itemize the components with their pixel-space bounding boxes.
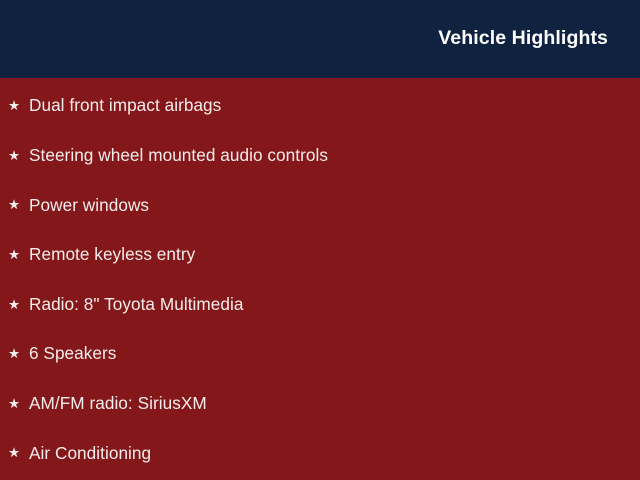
star-bullet-icon: ★ [8, 248, 29, 262]
list-item: ★Dual front impact airbags [8, 94, 221, 118]
star-bullet-icon: ★ [8, 99, 29, 113]
list-item: ★Radio: 8" Toyota Multimedia [8, 292, 243, 316]
star-bullet-icon: ★ [8, 298, 29, 312]
star-bullet-icon: ★ [8, 347, 29, 361]
list-item-label: Power windows [29, 197, 149, 214]
star-bullet-icon: ★ [8, 149, 29, 163]
star-bullet-icon: ★ [8, 446, 29, 460]
star-bullet-icon: ★ [8, 198, 29, 212]
list-item: ★Remote keyless entry [8, 243, 195, 267]
vehicle-highlights-slide: Vehicle Highlights ★Dual front impact ai… [0, 0, 640, 480]
list-item: ★6 Speakers [8, 342, 116, 366]
list-item: ★AM/FM radio: SiriusXM [8, 392, 207, 416]
list-item-label: Remote keyless entry [29, 246, 195, 263]
list-item-label: AM/FM radio: SiriusXM [29, 395, 207, 412]
list-item-label: Dual front impact airbags [29, 97, 221, 114]
list-item-label: Air Conditioning [29, 445, 151, 462]
list-item-label: 6 Speakers [29, 345, 116, 362]
star-bullet-icon: ★ [8, 397, 29, 411]
list-item-label: Steering wheel mounted audio controls [29, 147, 328, 164]
list-item: ★Air Conditioning [8, 441, 151, 465]
header-band: Vehicle Highlights [0, 0, 640, 78]
list-item-label: Radio: 8" Toyota Multimedia [29, 296, 243, 313]
page-title: Vehicle Highlights [438, 29, 608, 49]
list-item: ★Power windows [8, 193, 149, 217]
highlights-body: ★Dual front impact airbags★Steering whee… [0, 78, 640, 480]
list-item: ★Steering wheel mounted audio controls [8, 144, 328, 168]
